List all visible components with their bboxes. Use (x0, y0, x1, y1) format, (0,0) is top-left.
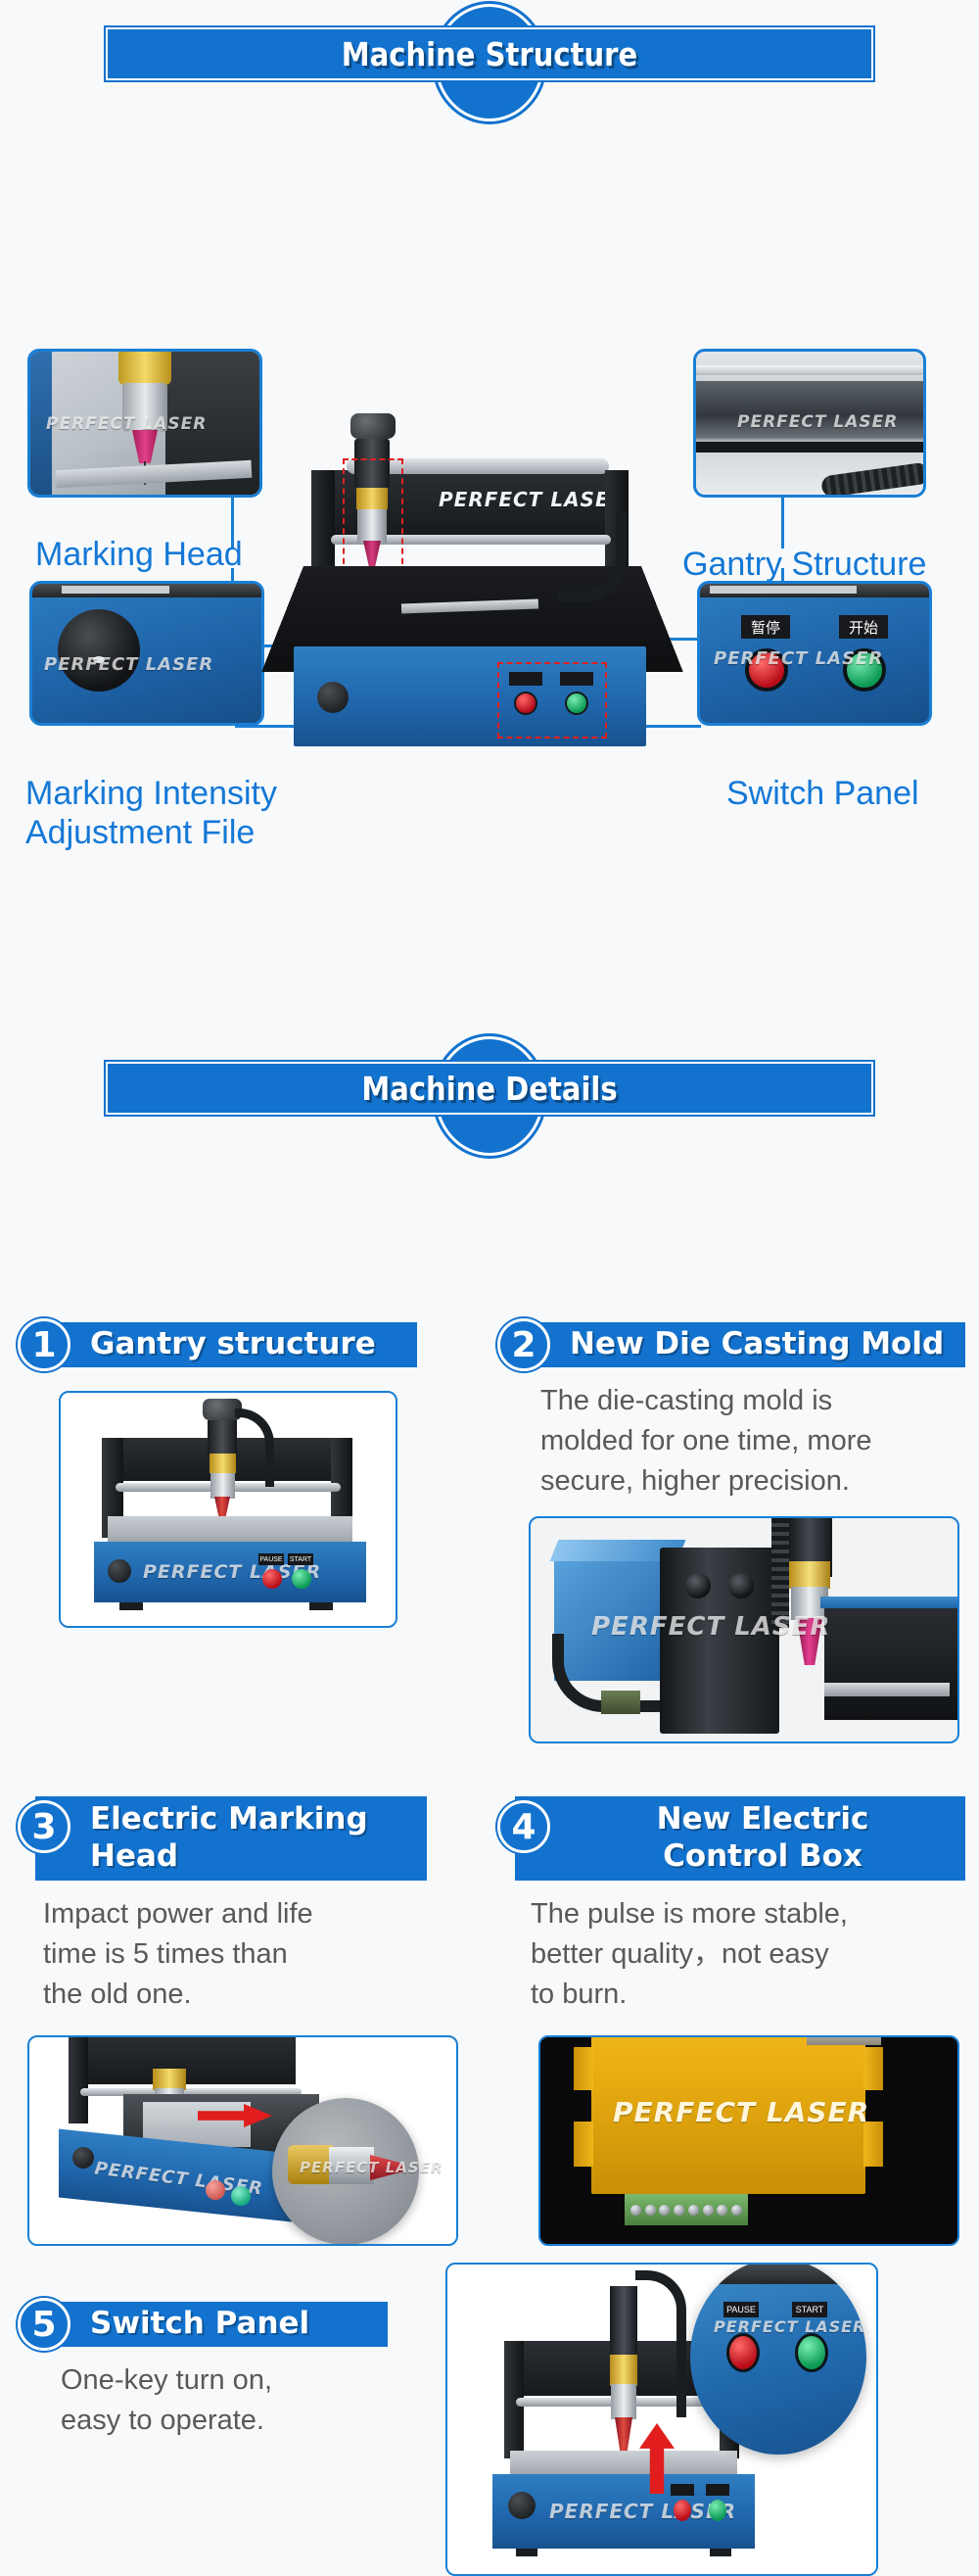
photo-pause-plate (671, 2484, 694, 2496)
mold-green-connector (601, 1691, 640, 1714)
inset-watermark: PERFECT LASER (714, 2317, 865, 2336)
machine-head-body (208, 1420, 237, 1457)
machine-base-knob (108, 1559, 131, 1583)
callout-label-marking-head: Marking Head (35, 535, 243, 574)
control-box-left-fin (574, 2047, 593, 2090)
detail-number-badge-3: 3 (18, 1800, 70, 1853)
detail-number-badge-5: 5 (18, 2298, 70, 2351)
detail-description-3: Impact power and life time is 5 times th… (43, 1894, 444, 2016)
mold-bolt-1 (685, 1573, 711, 1598)
inset-start-plate: START (792, 2302, 827, 2317)
section-title: Machine Details (59, 1062, 920, 1115)
detail-title-3: Electric Marking Head (35, 1796, 427, 1881)
detail-title-2: New Die Casting Mold (515, 1322, 965, 1367)
detail-number-badge-4: 4 (497, 1800, 550, 1853)
photo-start-button[interactable] (292, 1569, 311, 1589)
base-pause-button[interactable] (514, 692, 537, 715)
machine-brand-text: PERFECT LASER (439, 488, 626, 511)
machine-head-gold (210, 1454, 236, 1473)
inset-pause-button[interactable] (726, 2333, 760, 2372)
machine-head-silver (210, 1473, 235, 1499)
machine-photo-main: PERFECT LASER (264, 419, 676, 831)
photo-rail-top (696, 365, 926, 375)
detail-description-5: One-key turn on, easy to operate. (61, 2361, 452, 2441)
photo-pause-button[interactable] (262, 1569, 282, 1589)
control-box-terminal-block (625, 2194, 748, 2225)
control-box-left-fin-2 (574, 2122, 593, 2167)
start-label-plate: 开始 (839, 615, 888, 639)
detail-title-4: New Electric Control Box (515, 1796, 965, 1881)
base-start-button[interactable] (565, 692, 588, 715)
detail-photo-1: PERFECT LASER PAUSE START (59, 1391, 397, 1628)
detail-photo-2: PERFECT LASER (529, 1516, 959, 1743)
base-start-plate (560, 672, 593, 686)
callout-label-marking-intensity: Marking Intensity Adjustment File (25, 774, 277, 852)
photo-watermark: PERFECT LASER (591, 1612, 830, 1642)
machine-foot-left (119, 1602, 143, 1610)
photo-start-button[interactable] (709, 2500, 726, 2521)
leader-line-gantry-v (781, 498, 784, 549)
photo-gold-cylinder (118, 349, 171, 385)
detail-description-2: The die-casting mold is molded for one t… (540, 1381, 961, 1503)
detail-title-4-text: New Electric Control Box (657, 1801, 869, 1876)
machine-foot-left (516, 2549, 537, 2556)
machine-structure-banner: Machine Structure (0, 0, 979, 125)
detail-title-1: Gantry structure (35, 1322, 417, 1367)
inset-pause-plate: PAUSE (723, 2302, 759, 2317)
detail-photo-5: PERFECT LASER PAUSE START PERFECT LASER (445, 2263, 878, 2576)
machine-head-silver (611, 2384, 636, 2419)
machine-cable (635, 2270, 686, 2417)
control-box-connector-header (807, 2035, 881, 2045)
mold-metal-ruler (824, 1683, 950, 1696)
highlight-box-marking-head (343, 458, 403, 574)
machine-foot-right (309, 1602, 333, 1610)
pause-label-plate: 暂停 (741, 615, 790, 639)
mold-bolt-2 (728, 1573, 754, 1598)
mold-blue-edge (820, 1597, 959, 1608)
mold-head-gold (789, 1561, 830, 1589)
callout-photo-marking-intensity: PERFECT LASER (29, 581, 264, 726)
photo-start-plate (706, 2484, 729, 2496)
photo-watermark: PERFECT LASER (714, 648, 883, 669)
callout-photo-marking-head: PERFECT LASER (27, 349, 262, 498)
section-title: Machine Structure (59, 27, 920, 80)
machine-structure-diagram: PERFECT LASER Marking Head PERFECT LASER… (0, 125, 979, 1026)
switch-panel-zoom-inset: PAUSE START PERFECT LASER (690, 2263, 866, 2455)
photo-start-button[interactable] (231, 2186, 251, 2206)
photo-pause-plate: PAUSE (258, 1553, 284, 1565)
machine-base-knob (508, 2492, 536, 2519)
detail-photo-4: PERFECT LASER (538, 2035, 959, 2246)
machine-head-gold (610, 2355, 637, 2386)
callout-photo-gantry-structure: PERFECT LASER (693, 349, 926, 498)
machine-head-gold (153, 2069, 186, 2090)
machine-details-grid: 1 Gantry structure PERFECT LASER PAUSE S… (0, 1173, 979, 2476)
machine-cable (235, 1408, 274, 1487)
machine-foot-right (710, 2549, 731, 2556)
control-box-brand: PERFECT LASER (613, 2096, 869, 2128)
machine-base-knob (317, 682, 349, 713)
detail-number-badge-2: 2 (497, 1318, 550, 1371)
detail-description-4: The pulse is more stable, better quality… (531, 1894, 961, 2016)
machine-details-banner: Machine Details (0, 1026, 979, 1173)
photo-pause-button[interactable] (206, 2180, 225, 2200)
callout-label-gantry-structure: Gantry Structure (682, 545, 926, 584)
inset-watermark: PERFECT LASER (300, 2159, 443, 2176)
callout-photo-switch-panel: 暂停 开始 PERFECT LASER (697, 581, 932, 726)
callout-label-switch-panel: Switch Panel (726, 774, 919, 813)
control-box-right-fin (863, 2047, 883, 2090)
zoom-inset-circle: PERFECT LASER (272, 2098, 419, 2245)
detail-title-3-text: Electric Marking Head (90, 1801, 368, 1876)
photo-watermark: PERFECT LASER (737, 412, 898, 432)
machine-head-body (610, 2286, 637, 2355)
photo-pink-nozzle (132, 430, 158, 463)
photo-watermark: PERFECT LASER (46, 414, 207, 434)
photo-start-plate: START (288, 1553, 313, 1565)
inset-start-button[interactable] (795, 2333, 828, 2372)
base-pause-plate (509, 672, 542, 686)
machine-left-post (69, 2035, 88, 2123)
detail-title-5: Switch Panel (35, 2302, 388, 2347)
machine-head-knob (350, 413, 396, 439)
detail-photo-3: PERFECT LASER PERFECT LASER (27, 2035, 458, 2246)
photo-top-plate (710, 586, 857, 594)
photo-watermark: PERFECT LASER (44, 654, 213, 675)
machine-base-knob (72, 2147, 94, 2169)
photo-rail-slot (696, 442, 926, 453)
photo-top-plate (62, 586, 169, 594)
photo-pause-button[interactable] (674, 2500, 691, 2521)
inset-top-edge (690, 2263, 866, 2284)
detail-number-badge-1: 1 (18, 1318, 70, 1371)
photo-cable (820, 461, 926, 498)
photo-intensity-knob (58, 609, 140, 692)
mold-worktable (824, 1604, 959, 1720)
